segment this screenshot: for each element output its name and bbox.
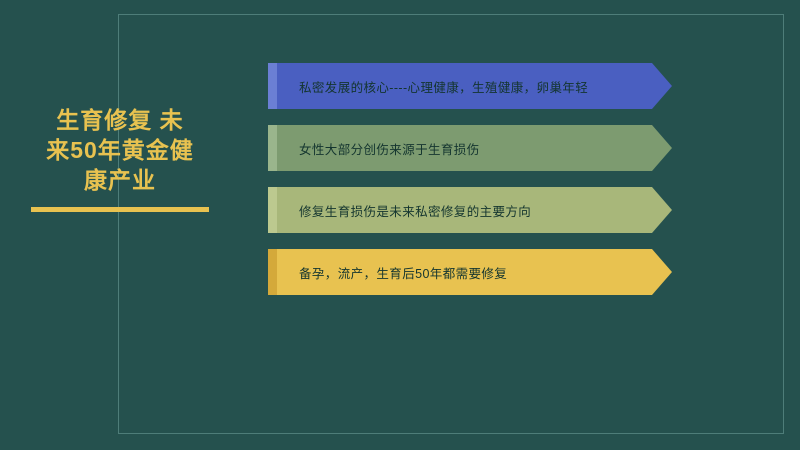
arrow-bar-2-body: 女性大部分创伤来源于生育损伤	[277, 125, 672, 171]
slide-title: 生育修复 未 来50年黄金健 康产业	[20, 105, 220, 195]
arrow-bar-3-accent	[268, 187, 277, 233]
arrow-bar-4-accent	[268, 249, 277, 295]
arrow-bar-4-body: 备孕，流产，生育后50年都需要修复	[277, 249, 672, 295]
arrow-bar-4[interactable]: 备孕，流产，生育后50年都需要修复	[268, 249, 672, 295]
slide-canvas: 生育修复 未 来50年黄金健 康产业 私密发展的核心----心理健康，生殖健康，…	[0, 0, 800, 450]
arrow-bar-2-label: 女性大部分创伤来源于生育损伤	[277, 139, 480, 158]
arrow-bar-3[interactable]: 修复生育损伤是未来私密修复的主要方向	[268, 187, 672, 233]
title-underline-rule	[31, 207, 209, 212]
arrow-bar-3-body: 修复生育损伤是未来私密修复的主要方向	[277, 187, 672, 233]
arrow-bar-1-label: 私密发展的核心----心理健康，生殖健康，卵巢年轻	[277, 77, 588, 96]
arrow-bar-3-label: 修复生育损伤是未来私密修复的主要方向	[277, 201, 531, 220]
arrow-bar-2[interactable]: 女性大部分创伤来源于生育损伤	[268, 125, 672, 171]
arrow-bar-1-accent	[268, 63, 277, 109]
title-block: 生育修复 未 来50年黄金健 康产业	[20, 105, 220, 212]
arrow-bar-4-label: 备孕，流产，生育后50年都需要修复	[277, 263, 507, 282]
arrow-bar-1-body: 私密发展的核心----心理健康，生殖健康，卵巢年轻	[277, 63, 672, 109]
arrow-bar-1[interactable]: 私密发展的核心----心理健康，生殖健康，卵巢年轻	[268, 63, 672, 109]
arrow-bar-2-accent	[268, 125, 277, 171]
